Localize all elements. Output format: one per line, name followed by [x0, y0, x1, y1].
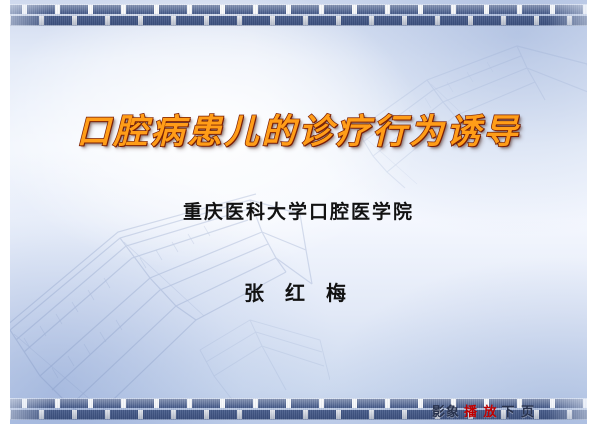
brick-row-upper [10, 5, 587, 14]
bottom-control-strip: 影象 播 放 下 页 [432, 400, 535, 420]
next-page-button[interactable]: 下 页 [501, 401, 535, 420]
top-brick-border [10, 4, 587, 26]
media-label: 影象 [432, 401, 460, 420]
slide-affiliation: 重庆医科大学口腔医学院 [10, 197, 587, 224]
slide-author: 张 红 梅 [10, 277, 587, 306]
presentation-slide: 口腔病患儿的诊疗行为诱导 重庆医科大学口腔医学院 张 红 梅 影象 播 放 下 … [10, 0, 587, 424]
play-button[interactable]: 播 放 [464, 401, 498, 420]
slide-title: 口腔病患儿的诊疗行为诱导 [10, 104, 587, 153]
brick-row-lower [10, 16, 587, 25]
